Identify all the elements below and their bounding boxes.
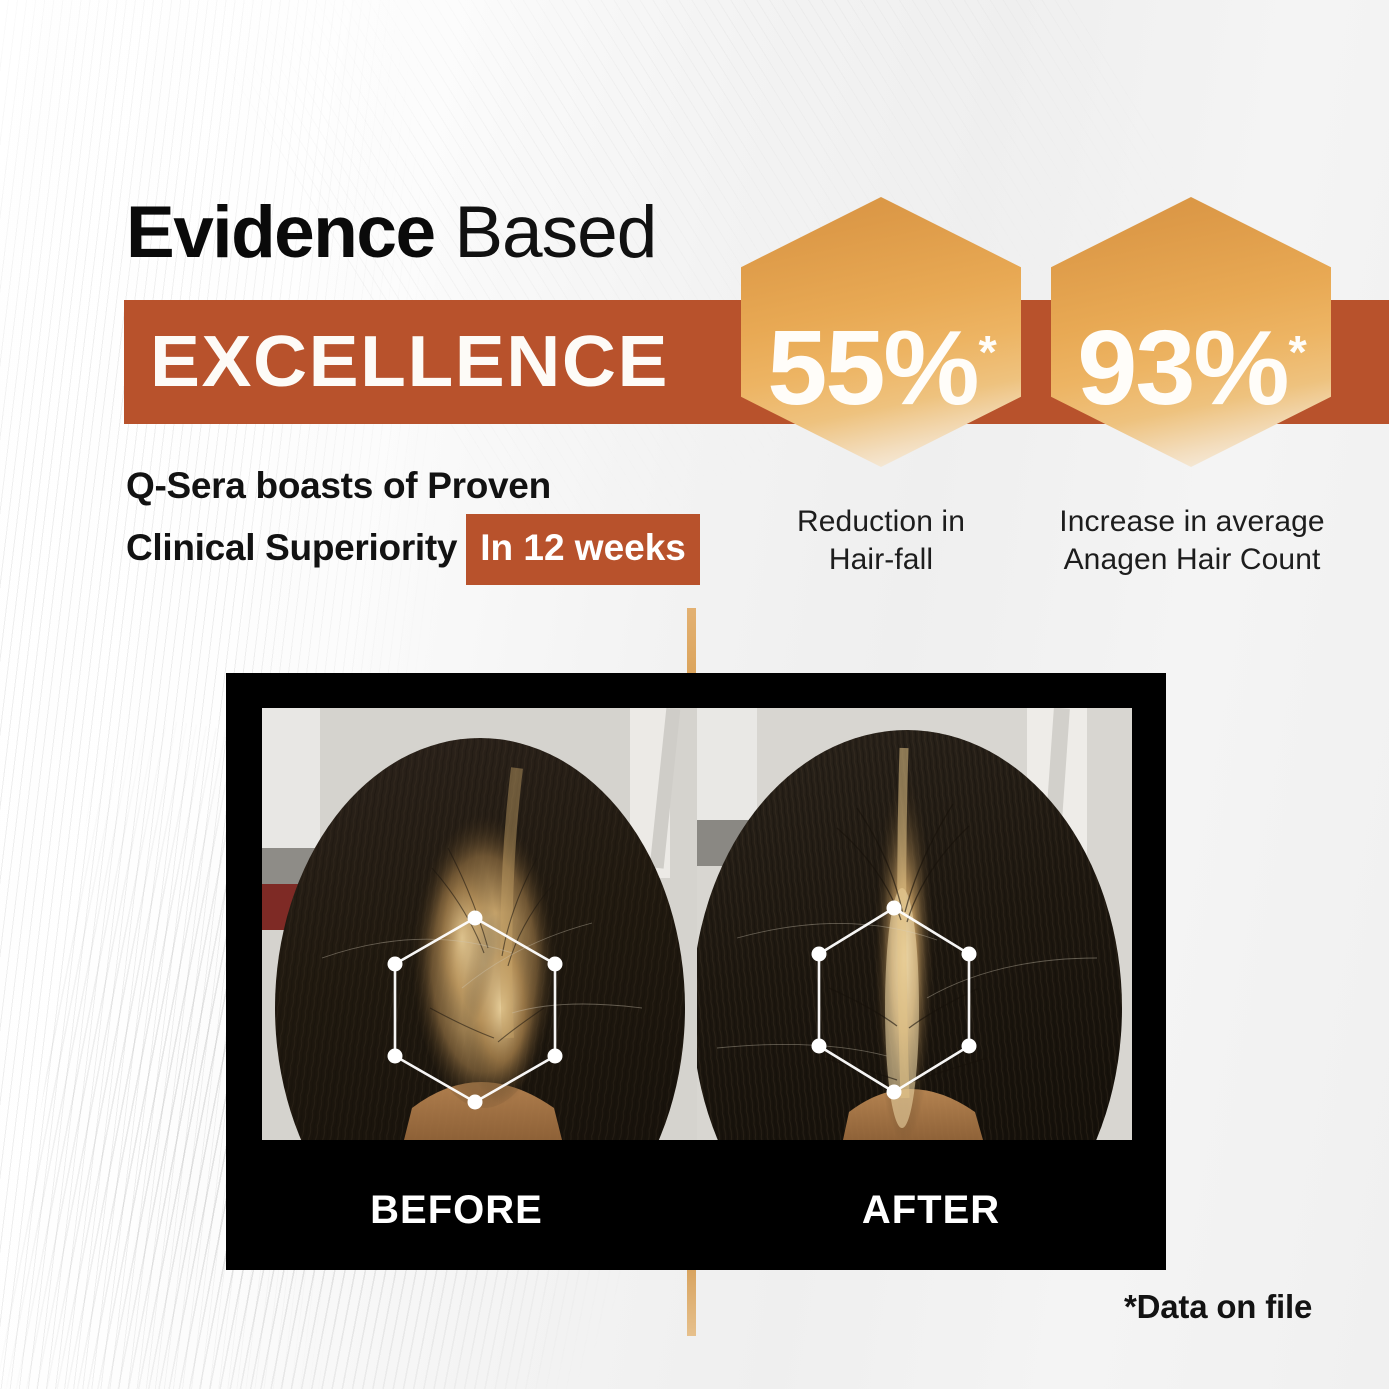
- stat-label-anagen-line2: Anagen Hair Count: [1027, 541, 1357, 579]
- photo-after: [697, 708, 1132, 1140]
- promo-canvas: Evidence Based EXCELLENCE Q-Sera boasts …: [0, 0, 1389, 1389]
- headline-word-based: Based: [454, 192, 656, 273]
- stat-number-55: 55%: [767, 309, 977, 427]
- footnote-data-on-file: *Data on file: [1124, 1290, 1312, 1323]
- stat-label-anagen: Increase in average Anagen Hair Count: [1027, 503, 1357, 579]
- duration-badge: In 12 weeks: [466, 514, 700, 585]
- subcopy-line-2-wrapper: Clinical SuperiorityIn 12 weeks: [126, 514, 746, 585]
- stat-label-hairfall: Reduction in Hair-fall: [741, 503, 1021, 579]
- stat-label-hairfall-line2: Hair-fall: [741, 541, 1021, 579]
- scalp-photo-before-image: [262, 708, 697, 1140]
- label-before: BEFORE: [226, 1190, 687, 1230]
- photo-before: [262, 708, 697, 1140]
- subcopy-block: Q-Sera boasts of Proven Clinical Superio…: [126, 458, 746, 585]
- stat-label-hairfall-line1: Reduction in: [741, 503, 1021, 541]
- stat-number-93: 93%: [1077, 309, 1287, 427]
- stat-asterisk-2: *: [1289, 326, 1305, 378]
- page-title: Evidence Based: [126, 196, 656, 269]
- stat-value-anagen: 93%*: [1048, 315, 1334, 421]
- label-after: AFTER: [696, 1190, 1166, 1230]
- stat-value-hairfall: 55%*: [738, 315, 1024, 421]
- stat-asterisk-1: *: [979, 326, 995, 378]
- scalp-photo-after-image: [697, 708, 1132, 1140]
- stat-label-anagen-line1: Increase in average: [1027, 503, 1357, 541]
- excellence-banner-label: EXCELLENCE: [150, 314, 669, 410]
- headline-word-evidence: Evidence: [126, 192, 435, 273]
- subcopy-line-1: Q-Sera boasts of Proven: [126, 458, 746, 514]
- before-after-photos: [262, 708, 1132, 1140]
- subcopy-line-2: Clinical Superiority: [126, 527, 457, 568]
